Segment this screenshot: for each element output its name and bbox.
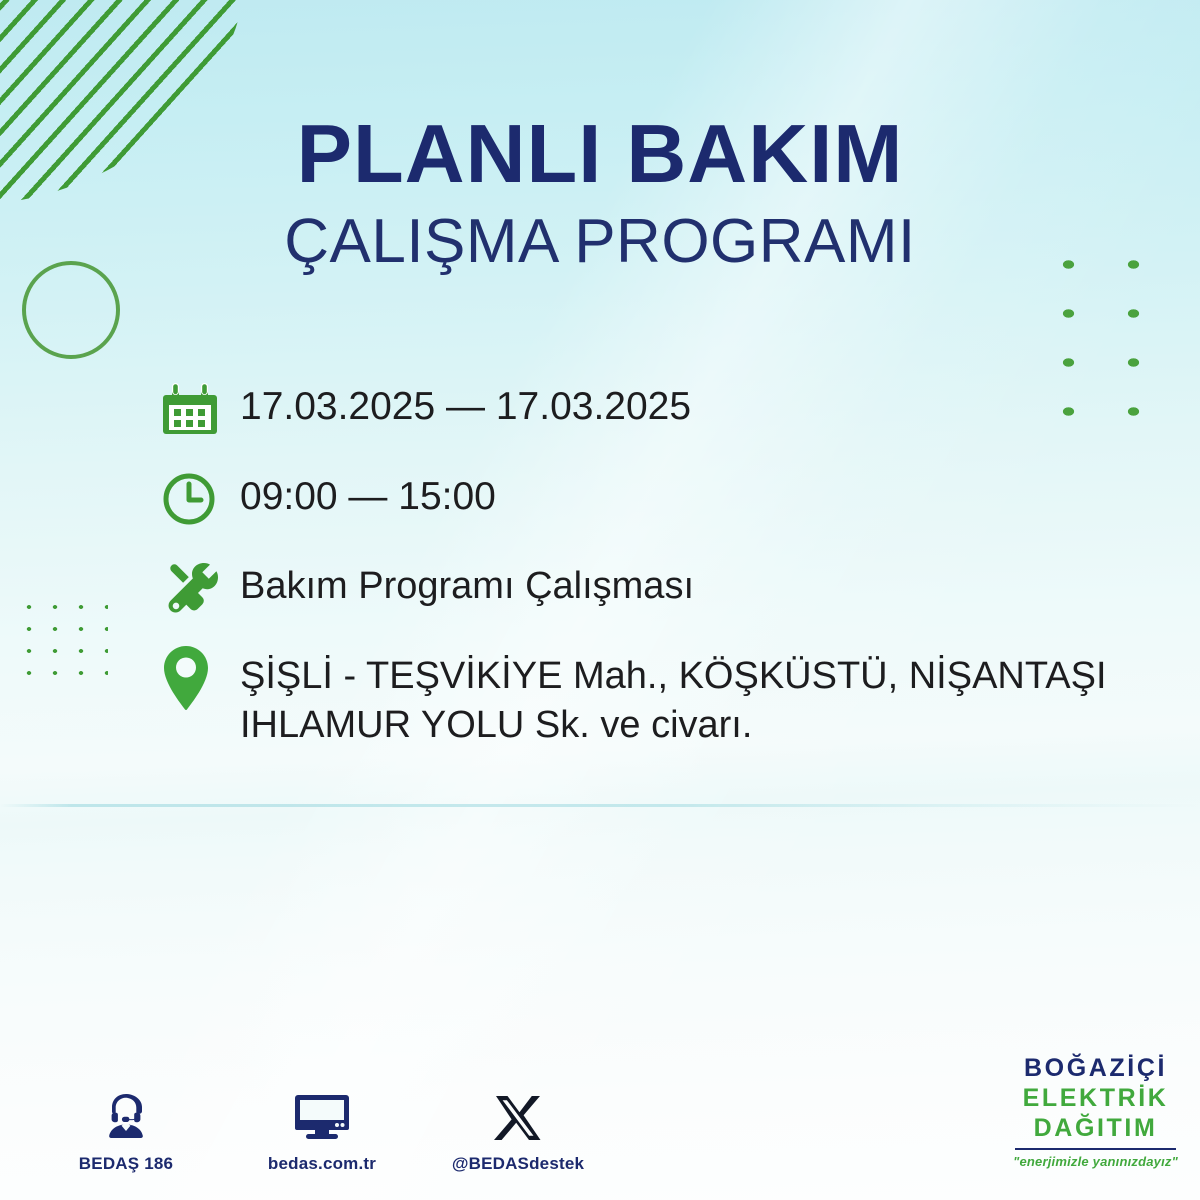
maintenance-details: 17.03.2025 — 17.03.2025 09:00 — 15:00 [160,378,1120,749]
brand-line-elektrik: ELEKTRİK [1013,1086,1178,1111]
location-value: ŞİŞLİ - TEŞVİKİYE Mah., KÖŞKÜSTÜ, NİŞANT… [240,648,1107,749]
detail-row-location: ŞİŞLİ - TEŞVİKİYE Mah., KÖŞKÜSTÜ, NİŞANT… [160,648,1120,749]
work-type-value: Bakım Programı Çalışması [240,558,694,611]
contact-list: BEDAŞ 186 [56,1084,588,1174]
headset-agent-icon [100,1084,152,1142]
detail-row-time: 09:00 — 15:00 [160,468,1120,530]
page-title: PLANLI BAKIM [0,112,1200,195]
page-subtitle: ÇALIŞMA PROGRAMI [0,211,1200,273]
contact-x[interactable]: @BEDASdestek [448,1084,588,1174]
location-pin-icon [160,648,240,710]
x-logo-icon [494,1084,542,1142]
tools-icon [160,558,240,620]
calendar-icon [160,378,240,440]
poster-footer: BEDAŞ 186 [0,1044,1200,1174]
bedas-logo: BOĞAZİÇİ ELEKTRİK DAĞITIM "enerjimizle y… [1013,1056,1178,1168]
monitor-icon [295,1084,349,1142]
poster-header: PLANLI BAKIM ÇALIŞMA PROGRAMI [0,112,1200,273]
brand-divider [1015,1148,1176,1150]
contact-x-label: @BEDASdestek [452,1154,584,1174]
clock-icon [160,468,240,530]
dot-grid-left-decoration [16,596,108,688]
contact-phone-label: BEDAŞ 186 [79,1154,173,1174]
time-range-value: 09:00 — 15:00 [240,468,496,522]
brand-line-bogazici: BOĞAZİÇİ [1013,1056,1178,1081]
horizontal-seam-line [0,804,1200,807]
contact-phone[interactable]: BEDAŞ 186 [56,1084,196,1174]
circle-outline-decoration [22,261,120,359]
brand-line-dagitim: DAĞITIM [1013,1116,1178,1141]
brand-tagline: "enerjimizle yanınızdayız" [1013,1155,1178,1168]
contact-website-label: bedas.com.tr [268,1154,376,1174]
contact-website[interactable]: bedas.com.tr [252,1084,392,1174]
planned-maintenance-poster: PLANLI BAKIM ÇALIŞMA PROGRAMI [0,0,1200,1200]
detail-row-work-type: Bakım Programı Çalışması [160,558,1120,620]
detail-row-date: 17.03.2025 — 17.03.2025 [160,378,1120,440]
date-range-value: 17.03.2025 — 17.03.2025 [240,378,691,432]
